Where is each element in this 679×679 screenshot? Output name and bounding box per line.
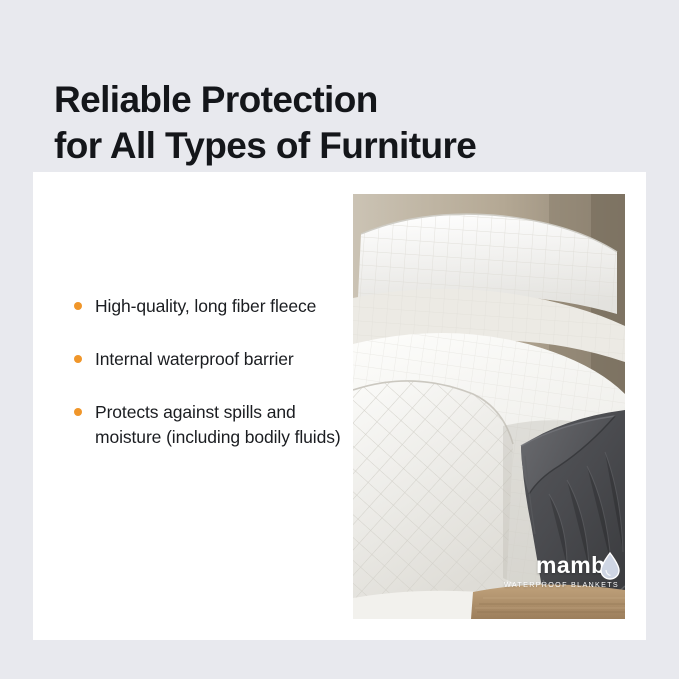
list-item: Protects against spills and moisture (in… — [71, 400, 351, 450]
feature-text: High-quality, long fiber fleece — [95, 294, 351, 319]
bullet-dot-icon — [74, 355, 82, 363]
feature-text: Protects against spills and moisture (in… — [95, 400, 351, 450]
list-item: High-quality, long fiber fleece — [71, 294, 351, 319]
page-title-line-1: Reliable Protection — [54, 77, 654, 124]
page-title-line-2: for All Types of Furniture — [54, 123, 654, 170]
product-infographic: Reliable Protection for All Types of Fur… — [0, 0, 679, 679]
content-card: High-quality, long fiber fleece Internal… — [33, 172, 646, 640]
list-item: Internal waterproof barrier — [71, 347, 351, 372]
bullet-dot-icon — [74, 408, 82, 416]
bullet-dot-icon — [74, 302, 82, 310]
product-photo: mambe WATERPROOF BLANKETS — [353, 194, 625, 619]
feature-list: High-quality, long fiber fleece Internal… — [71, 294, 351, 449]
page-title: Reliable Protection for All Types of Fur… — [54, 77, 654, 170]
feature-text: Internal waterproof barrier — [95, 347, 351, 372]
